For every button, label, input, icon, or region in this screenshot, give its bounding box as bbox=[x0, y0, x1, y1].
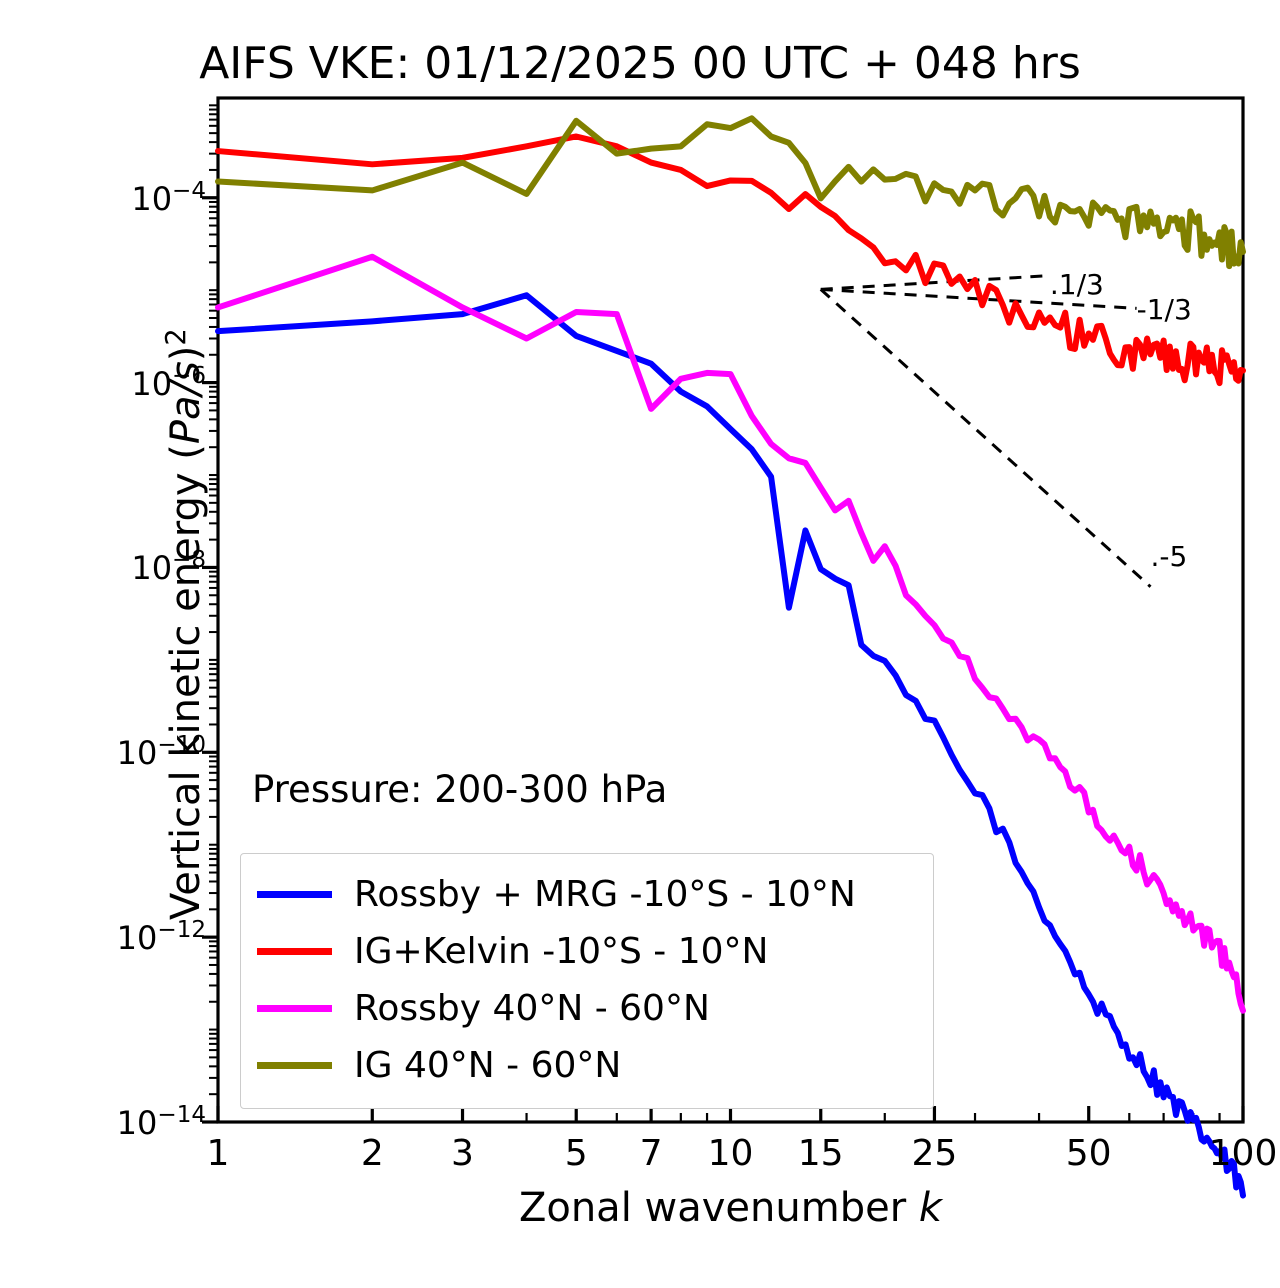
x-tick-label-5: 5 bbox=[565, 1133, 588, 1174]
legend-label-2: Rossby 40°N - 60°N bbox=[354, 988, 710, 1029]
y-tick-exponent: −14 bbox=[157, 1102, 206, 1128]
y-tick-label-1: 10−6 bbox=[131, 363, 206, 403]
legend-swatch-0 bbox=[257, 891, 332, 898]
x-tick-label-1: 1 bbox=[207, 1133, 230, 1174]
legend-swatch-3 bbox=[257, 1062, 332, 1069]
legend-item-1[interactable]: IG+Kelvin -10°S - 10°N bbox=[257, 923, 917, 980]
legend-item-0[interactable]: Rossby + MRG -10°S - 10°N bbox=[257, 866, 917, 923]
y-tick-exponent: −10 bbox=[157, 732, 206, 758]
y-tick-exponent: −6 bbox=[172, 363, 206, 389]
y-tick-label-4: 10−12 bbox=[117, 917, 206, 957]
y-tick-mantissa: 10 bbox=[117, 919, 158, 957]
x-tick-label-25: 25 bbox=[911, 1133, 957, 1174]
x-tick-label-50: 50 bbox=[1066, 1133, 1112, 1174]
x-tick-label-15: 15 bbox=[798, 1133, 844, 1174]
y-tick-mantissa: 10 bbox=[117, 734, 158, 772]
figure-canvas: AIFS VKE: 01/12/2025 00 UTC + 048 hrs Ve… bbox=[0, 0, 1280, 1288]
x-tick-label-7: 7 bbox=[640, 1133, 663, 1174]
y-axis-label-plain: Vertical kinetic energy ( bbox=[163, 444, 209, 920]
legend-swatch-2 bbox=[257, 1005, 332, 1012]
y-tick-exponent: −4 bbox=[172, 178, 206, 204]
x-tick-label-2: 2 bbox=[361, 1133, 384, 1174]
y-tick-label-5: 10−14 bbox=[117, 1102, 206, 1142]
series-line-ig-40-n-60-n bbox=[218, 118, 1243, 266]
y-tick-mantissa: 10 bbox=[131, 549, 172, 587]
legend-swatch-1 bbox=[257, 948, 332, 955]
annotation-slope-plus-one-third: .1/3 bbox=[1050, 268, 1104, 301]
x-tick-label-3: 3 bbox=[451, 1133, 474, 1174]
x-tick-label-100: 100 bbox=[1209, 1133, 1278, 1174]
legend-item-2[interactable]: Rossby 40°N - 60°N bbox=[257, 980, 917, 1037]
y-tick-label-3: 10−10 bbox=[117, 732, 206, 772]
x-axis-label-italic: k bbox=[919, 1185, 942, 1231]
legend-label-3: IG 40°N - 60°N bbox=[354, 1045, 621, 1086]
y-axis-label-tail: ) bbox=[163, 346, 209, 362]
annotation-slope-minus-five: .-5 bbox=[1151, 540, 1188, 573]
annotation-pressure-layer: Pressure: 200-300 hPa bbox=[252, 768, 667, 811]
y-axis-label: Vertical kinetic energy (Pa/s)2 bbox=[161, 109, 209, 1139]
annotation-slope-minus-one-third: -1/3 bbox=[1137, 293, 1192, 326]
y-tick-mantissa: 10 bbox=[117, 1104, 158, 1142]
chart-legend[interactable]: Rossby + MRG -10°S - 10°NIG+Kelvin -10°S… bbox=[240, 853, 934, 1109]
legend-item-3[interactable]: IG 40°N - 60°N bbox=[257, 1037, 917, 1094]
y-tick-label-2: 10−8 bbox=[131, 548, 206, 588]
x-axis-label-plain: Zonal wavenumber bbox=[519, 1185, 919, 1231]
y-tick-exponent: −8 bbox=[172, 548, 206, 574]
y-tick-exponent: −12 bbox=[157, 917, 206, 943]
legend-label-1: IG+Kelvin -10°S - 10°N bbox=[354, 931, 768, 972]
legend-label-0: Rossby + MRG -10°S - 10°N bbox=[354, 874, 856, 915]
x-tick-label-10: 10 bbox=[708, 1133, 754, 1174]
y-tick-label-0: 10−4 bbox=[131, 178, 206, 218]
y-tick-mantissa: 10 bbox=[131, 364, 172, 402]
y-tick-mantissa: 10 bbox=[131, 180, 172, 218]
x-axis-label: Zonal wavenumber k bbox=[218, 1185, 1243, 1231]
y-axis-label-exponent: 2 bbox=[161, 328, 192, 345]
reference-line-slope-1-over-3 bbox=[821, 276, 1050, 290]
